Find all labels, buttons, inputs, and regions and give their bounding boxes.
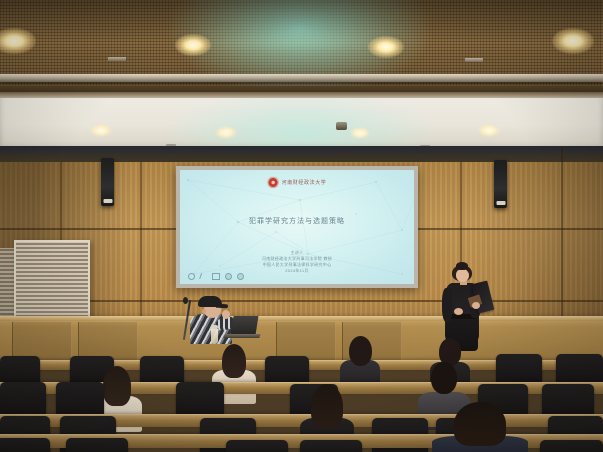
attendee-hair bbox=[222, 344, 246, 378]
soffit-downlight-3 bbox=[350, 127, 370, 139]
chair-r4-c1[interactable] bbox=[0, 438, 50, 452]
ceiling-downlight-4 bbox=[552, 28, 594, 54]
wall-speaker-left-icon bbox=[101, 158, 114, 206]
water-bottle-cap bbox=[211, 325, 218, 329]
projector-icon bbox=[336, 122, 347, 130]
attendee-hair bbox=[311, 384, 343, 428]
chair-r1-c4[interactable] bbox=[265, 356, 309, 384]
wall-seam-vertical-2 bbox=[140, 162, 142, 322]
slide-toolbar[interactable] bbox=[188, 273, 244, 280]
desk-microphone-icon bbox=[183, 297, 188, 304]
chair-r4-c3[interactable] bbox=[226, 440, 288, 452]
wall-speaker-right-icon bbox=[494, 160, 507, 208]
slide-title: 犯罪学研究方法与选题策略 bbox=[180, 216, 414, 226]
attendee-front-navy bbox=[432, 402, 528, 452]
pointer-circle-icon[interactable] bbox=[188, 273, 195, 280]
chair-r4-c4[interactable] bbox=[300, 440, 362, 452]
ceiling-rail bbox=[0, 74, 603, 82]
soffit-downlight-1 bbox=[90, 124, 112, 137]
chair-r4-c2[interactable] bbox=[66, 438, 128, 452]
slide-subtitle-block: 主讲人 河南财经政法大学刑事司法学院 教授 中国人民大学刑事法律科学研究中心 2… bbox=[180, 250, 414, 274]
ceiling-downlight-3 bbox=[368, 36, 404, 58]
more-icon[interactable] bbox=[237, 273, 244, 280]
attendee-hair bbox=[349, 336, 372, 366]
soffit-top-edge bbox=[0, 92, 603, 98]
soffit-downlight-2 bbox=[215, 126, 237, 139]
presenter-laptop[interactable] bbox=[224, 316, 258, 338]
standing-woman-left-hand bbox=[454, 308, 463, 315]
chair-r2-c3[interactable] bbox=[176, 382, 224, 416]
front-desk-top bbox=[0, 316, 603, 321]
chair-r2-c1[interactable] bbox=[0, 382, 46, 416]
attendee-hair bbox=[103, 366, 131, 406]
presenter-laptop-base bbox=[223, 334, 260, 338]
chair-r2-c2[interactable] bbox=[56, 382, 104, 416]
slide-university-logo: 河南财经政法大学 bbox=[268, 177, 327, 188]
standing-woman-left-arm bbox=[442, 288, 452, 322]
attendee-hair bbox=[454, 402, 506, 446]
ceiling-vent-right bbox=[465, 58, 483, 62]
chair-r1-c5[interactable] bbox=[496, 354, 542, 384]
projection-screen[interactable]: 河南财经政法大学 犯罪学研究方法与选题策略 主讲人 河南财经政法大学刑事司法学院… bbox=[180, 170, 414, 284]
lecture-hall-photo: 河南财经政法大学 犯罪学研究方法与选题策略 主讲人 河南财经政法大学刑事司法学院… bbox=[0, 0, 603, 452]
projection-screen-frame: 河南财经政法大学 犯罪学研究方法与选题策略 主讲人 河南财经政法大学刑事司法学院… bbox=[176, 166, 418, 288]
ceiling-downlight-2 bbox=[175, 34, 211, 56]
soffit-downlight-4 bbox=[478, 124, 500, 137]
pen-icon[interactable] bbox=[199, 272, 208, 280]
chair-r2-c6[interactable] bbox=[542, 384, 594, 418]
grid-icon[interactable] bbox=[212, 273, 220, 280]
presenter-ear bbox=[202, 309, 206, 314]
wall-upper-dark-band bbox=[0, 146, 603, 162]
university-seal-icon bbox=[268, 177, 279, 188]
standing-woman-hair-bun bbox=[456, 262, 468, 270]
chair-r1-c6[interactable] bbox=[556, 354, 603, 384]
presenter-laptop-screen[interactable] bbox=[230, 316, 258, 335]
attendee-hair bbox=[431, 362, 457, 394]
audience-area bbox=[0, 352, 603, 452]
settings-icon[interactable] bbox=[225, 273, 232, 280]
ceiling-vent-left bbox=[108, 57, 126, 61]
water-bottle bbox=[211, 328, 218, 344]
wall-seam-horizontal-2 bbox=[0, 300, 603, 302]
speaker-badge-right bbox=[496, 201, 505, 205]
speaker-badge-left bbox=[103, 199, 112, 203]
presenter-cap-brim bbox=[216, 304, 228, 309]
university-name: 河南财经政法大学 bbox=[282, 179, 327, 186]
soffit-band bbox=[0, 92, 603, 150]
chair-r4-c5[interactable] bbox=[540, 440, 603, 452]
standing-woman-right-hand bbox=[472, 302, 480, 309]
standing-woman-face bbox=[456, 269, 469, 282]
